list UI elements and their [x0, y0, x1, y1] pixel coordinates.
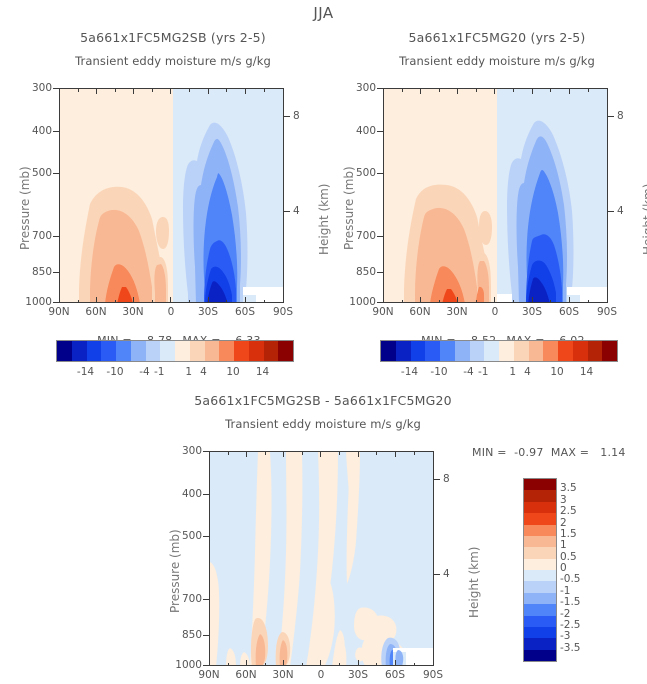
colorbar-diff-cell-0: [524, 479, 556, 490]
colorbar-diff-tick-label: -3.5: [560, 642, 581, 654]
xtick-label-30s-bottom-diff: 30S: [344, 669, 372, 681]
panel-subtitle-bottom-diff: Transient eddy moisture m/s g/kg: [205, 417, 441, 431]
colorbar-diff-tick-label: -1: [560, 585, 570, 597]
xtick-label-0-bottom-diff: 0: [307, 669, 335, 681]
colorbar-cell-5: [455, 341, 470, 361]
colorbar-diff-tick-label: 3.5: [560, 482, 577, 494]
xtick-label-90n-top-right: 90N: [369, 306, 397, 318]
panel-subtitle-top-left: Transient eddy moisture m/s g/kg: [55, 54, 291, 68]
xtick-label-0-top-left: 0: [157, 306, 185, 318]
colorbar-diff-tick-label: -1.5: [560, 596, 581, 608]
colorbar-tick-label: -1: [145, 366, 173, 378]
colorbar-cell-3: [101, 341, 116, 361]
colorbar-diff-cell-6: [524, 547, 556, 558]
colorbar-diff-cell-10: [524, 593, 556, 604]
xtick-label-60s-bottom-diff: 60S: [381, 669, 409, 681]
panel-title-top-right: 5a661x1FC5MG20 (yrs 2-5): [385, 30, 609, 45]
contour-plot-top-right[interactable]: [383, 88, 608, 303]
colorbar-cell-1: [396, 341, 411, 361]
contour-plot-bottom-diff[interactable]: [209, 451, 434, 666]
colorbar-cell-5: [131, 341, 146, 361]
colorbar-main-right[interactable]: [380, 340, 618, 362]
colorbar-diff-cell-12: [524, 616, 556, 627]
colorbar-diff-tick-label: 3: [560, 494, 567, 506]
colorbar-cell-0: [57, 341, 72, 361]
colorbar-tick-label: -1: [469, 366, 497, 378]
colorbar-cell-15: [278, 341, 293, 361]
colorbar-cell-8: [499, 341, 514, 361]
colorbar-cell-14: [588, 341, 603, 361]
colorbar-diff-cell-13: [524, 627, 556, 638]
xtick-label-90n-top-left: 90N: [45, 306, 73, 318]
colorbar-cell-14: [264, 341, 279, 361]
xtick-label-60n-top-left: 60N: [82, 306, 110, 318]
colorbar-cell-9: [514, 341, 529, 361]
contour-plot-top-left[interactable]: [59, 88, 284, 303]
colorbar-diff-cell-4: [524, 525, 556, 536]
yaxis-title-bottom-diff: Pressure (mb): [168, 529, 182, 613]
xtick-label-90s-top-left: 90S: [269, 306, 297, 318]
colorbar-cell-2: [411, 341, 426, 361]
colorbar-diff-tick-label: -3: [560, 630, 570, 642]
colorbar-cell-15: [602, 341, 617, 361]
ytick-label-400-bottom-diff: 400: [176, 488, 202, 500]
ytick-label-850-bottom-diff: 850: [176, 629, 202, 641]
colorbar-diff-tick-label: -2.5: [560, 619, 581, 631]
colorbar-tick-label: 10: [219, 366, 247, 378]
colorbar-tick-label: 14: [249, 366, 277, 378]
colorbar-cell-6: [146, 341, 161, 361]
y2tick-label-8-top-left: 8: [293, 110, 300, 122]
colorbar-diff-cell-11: [524, 604, 556, 615]
colorbar-diff-tick-label: -2: [560, 608, 570, 620]
colorbar-tick-label: 10: [543, 366, 571, 378]
colorbar-diff-cell-14: [524, 638, 556, 649]
colorbar-diff-cell-9: [524, 581, 556, 592]
xtick-label-60s-top-left: 60S: [231, 306, 259, 318]
colorbar-cell-13: [249, 341, 264, 361]
colorbar-cell-3: [425, 341, 440, 361]
colorbar-tick-label: -10: [101, 366, 129, 378]
colorbar-cell-1: [72, 341, 87, 361]
colorbar-cell-8: [175, 341, 190, 361]
colorbar-cell-7: [484, 341, 499, 361]
y2tick-label-4-top-left: 4: [293, 205, 300, 217]
xtick-label-60s-top-right: 60S: [555, 306, 583, 318]
colorbar-diff-tick-label: 2: [560, 517, 567, 529]
colorbar-cell-7: [160, 341, 175, 361]
ytick-label-400-top-left: 400: [26, 125, 52, 137]
ytick-label-400-top-right: 400: [350, 125, 376, 137]
xtick-label-60n-bottom-diff: 60N: [232, 669, 260, 681]
colorbar-diff-cell-5: [524, 536, 556, 547]
colorbar-diff-tick-label: -0.5: [560, 573, 581, 585]
contour-fill-bottom-diff: [210, 452, 434, 666]
yaxis-title-top-left: Pressure (mb): [18, 166, 32, 250]
colorbar-diff-tick-label: 0: [560, 562, 567, 574]
ytick-label-850-top-right: 850: [350, 266, 376, 278]
colorbar-tick-label: 4: [190, 366, 218, 378]
colorbar-cell-13: [573, 341, 588, 361]
xtick-label-30n-bottom-diff: 30N: [269, 669, 297, 681]
colorbar-tick-label: -14: [396, 366, 424, 378]
y2axis-title-top-right: Height (km): [641, 184, 647, 255]
y2axis-title-bottom-diff: Height (km): [467, 547, 481, 618]
colorbar-cell-10: [205, 341, 220, 361]
xtick-label-90s-top-right: 90S: [593, 306, 621, 318]
ytick-label-300-top-right: 300: [350, 82, 376, 94]
xtick-label-90s-bottom-diff: 90S: [419, 669, 447, 681]
colorbar-main-left[interactable]: [56, 340, 294, 362]
colorbar-diff-tick-label: 0.5: [560, 551, 577, 563]
panel-subtitle-top-right: Transient eddy moisture m/s g/kg: [379, 54, 615, 68]
colorbar-diff-cell-1: [524, 490, 556, 501]
y2axis-title-top-left: Height (km): [317, 184, 331, 255]
colorbar-cell-4: [440, 341, 455, 361]
xtick-label-90n-bottom-diff: 90N: [195, 669, 223, 681]
xtick-label-60n-top-right: 60N: [406, 306, 434, 318]
colorbar-cell-2: [87, 341, 102, 361]
colorbar-tick-label: -10: [425, 366, 453, 378]
colorbar-cell-12: [234, 341, 249, 361]
colorbar-cell-11: [543, 341, 558, 361]
contour-fill-top-left: [60, 89, 284, 303]
xtick-label-30s-top-right: 30S: [518, 306, 546, 318]
xtick-label-0-top-right: 0: [481, 306, 509, 318]
ytick-label-300-bottom-diff: 300: [176, 445, 202, 457]
y2tick-label-4-top-right: 4: [617, 205, 624, 217]
colorbar-diff-cell-7: [524, 559, 556, 570]
y2tick-label-8-bottom-diff: 8: [443, 473, 450, 485]
panel-title-bottom-diff: 5a661x1FC5MG2SB - 5a661x1FC5MG20: [183, 393, 463, 408]
colorbar-tick-label: 4: [514, 366, 542, 378]
contour-fill-top-right: [384, 89, 608, 303]
xtick-label-30n-top-left: 30N: [119, 306, 147, 318]
colorbar-tick-label: -14: [72, 366, 100, 378]
colorbar-diff-tick-label: 2.5: [560, 505, 577, 517]
y2tick-label-8-top-right: 8: [617, 110, 624, 122]
colorbar-diff-cell-15: [524, 650, 556, 661]
colorbar-diff-cell-2: [524, 502, 556, 513]
colorbar-cell-9: [190, 341, 205, 361]
y2tick-label-4-bottom-diff: 4: [443, 568, 450, 580]
colorbar-cell-6: [470, 341, 485, 361]
xtick-label-30n-top-right: 30N: [443, 306, 471, 318]
colorbar-diff-tick-label: 1.5: [560, 528, 577, 540]
ytick-label-850-top-left: 850: [26, 266, 52, 278]
xtick-label-30s-top-left: 30S: [194, 306, 222, 318]
colorbar-cell-11: [219, 341, 234, 361]
panel-title-top-left: 5a661x1FC5MG2SB (yrs 2-5): [61, 30, 285, 45]
colorbar-cell-12: [558, 341, 573, 361]
figure-season-title: JJA: [0, 4, 647, 22]
colorbar-tick-label: 14: [573, 366, 601, 378]
colorbar-diff-cell-3: [524, 513, 556, 524]
colorbar-cell-10: [529, 341, 544, 361]
colorbar-diff[interactable]: [523, 478, 557, 662]
colorbar-cell-0: [381, 341, 396, 361]
colorbar-diff-cell-8: [524, 570, 556, 581]
ytick-label-300-top-left: 300: [26, 82, 52, 94]
minmax-label-bottom-diff: MIN = -0.97 MAX = 1.14: [472, 446, 626, 459]
yaxis-title-top-right: Pressure (mb): [342, 166, 356, 250]
colorbar-cell-4: [116, 341, 131, 361]
colorbar-diff-tick-label: 1: [560, 539, 567, 551]
